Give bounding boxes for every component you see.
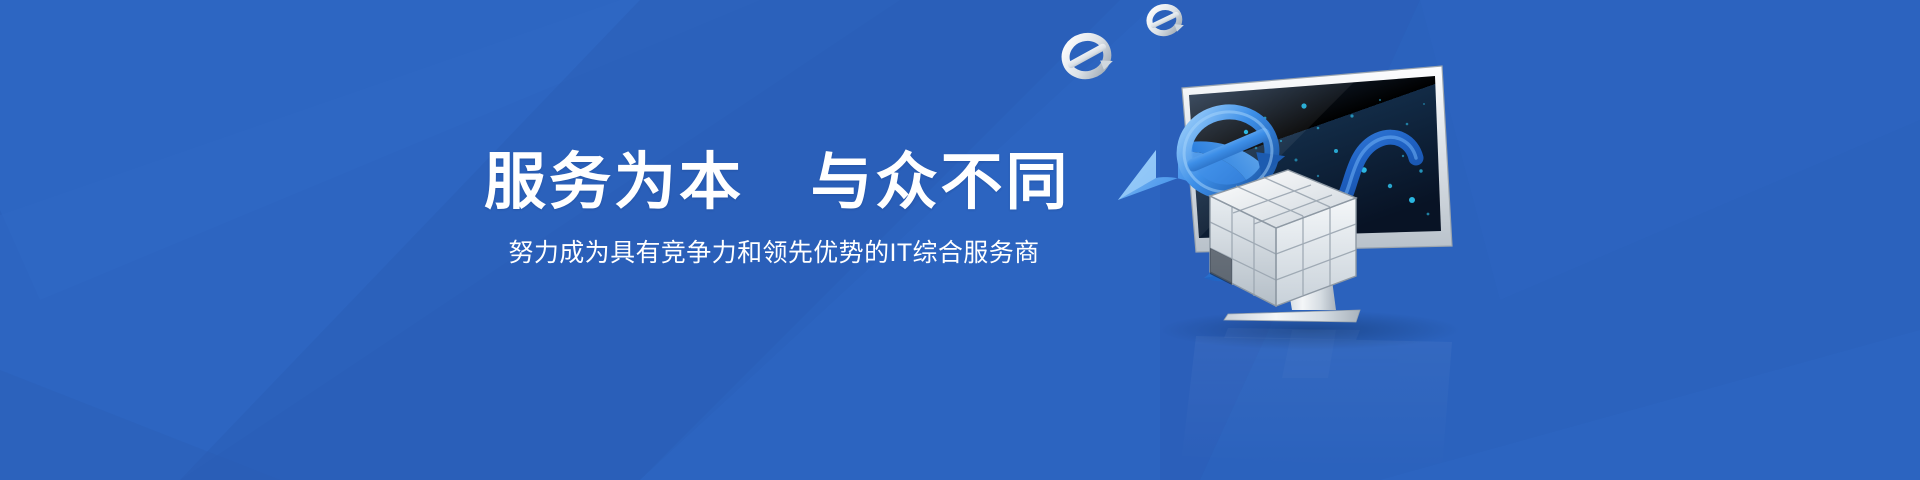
headline-part-2: 与众不同 bbox=[810, 148, 1070, 217]
e-logo-small-silver-2 bbox=[1061, 31, 1115, 80]
e-logo-small-silver-1 bbox=[1147, 4, 1185, 37]
floor-reflection bbox=[1182, 328, 1452, 470]
silver-rubiks-cube bbox=[1210, 170, 1356, 306]
banner-subheadline: 努力成为具有竞争力和领先优势的IT综合服务商 bbox=[484, 237, 1064, 270]
monitor-base bbox=[1224, 310, 1360, 322]
banner-headline: 服务为本 与众不同 bbox=[484, 148, 1064, 217]
banner-copy: 服务为本 与众不同 努力成为具有竞争力和领先优势的IT综合服务商 bbox=[484, 148, 1064, 270]
headline-part-1: 服务为本 bbox=[484, 148, 744, 217]
hero-banner: 服务为本 与众不同 努力成为具有竞争力和领先优势的IT综合服务商 bbox=[0, 0, 1920, 480]
illustration-svg bbox=[1060, 0, 1500, 480]
banner-illustration bbox=[1060, 0, 1500, 480]
